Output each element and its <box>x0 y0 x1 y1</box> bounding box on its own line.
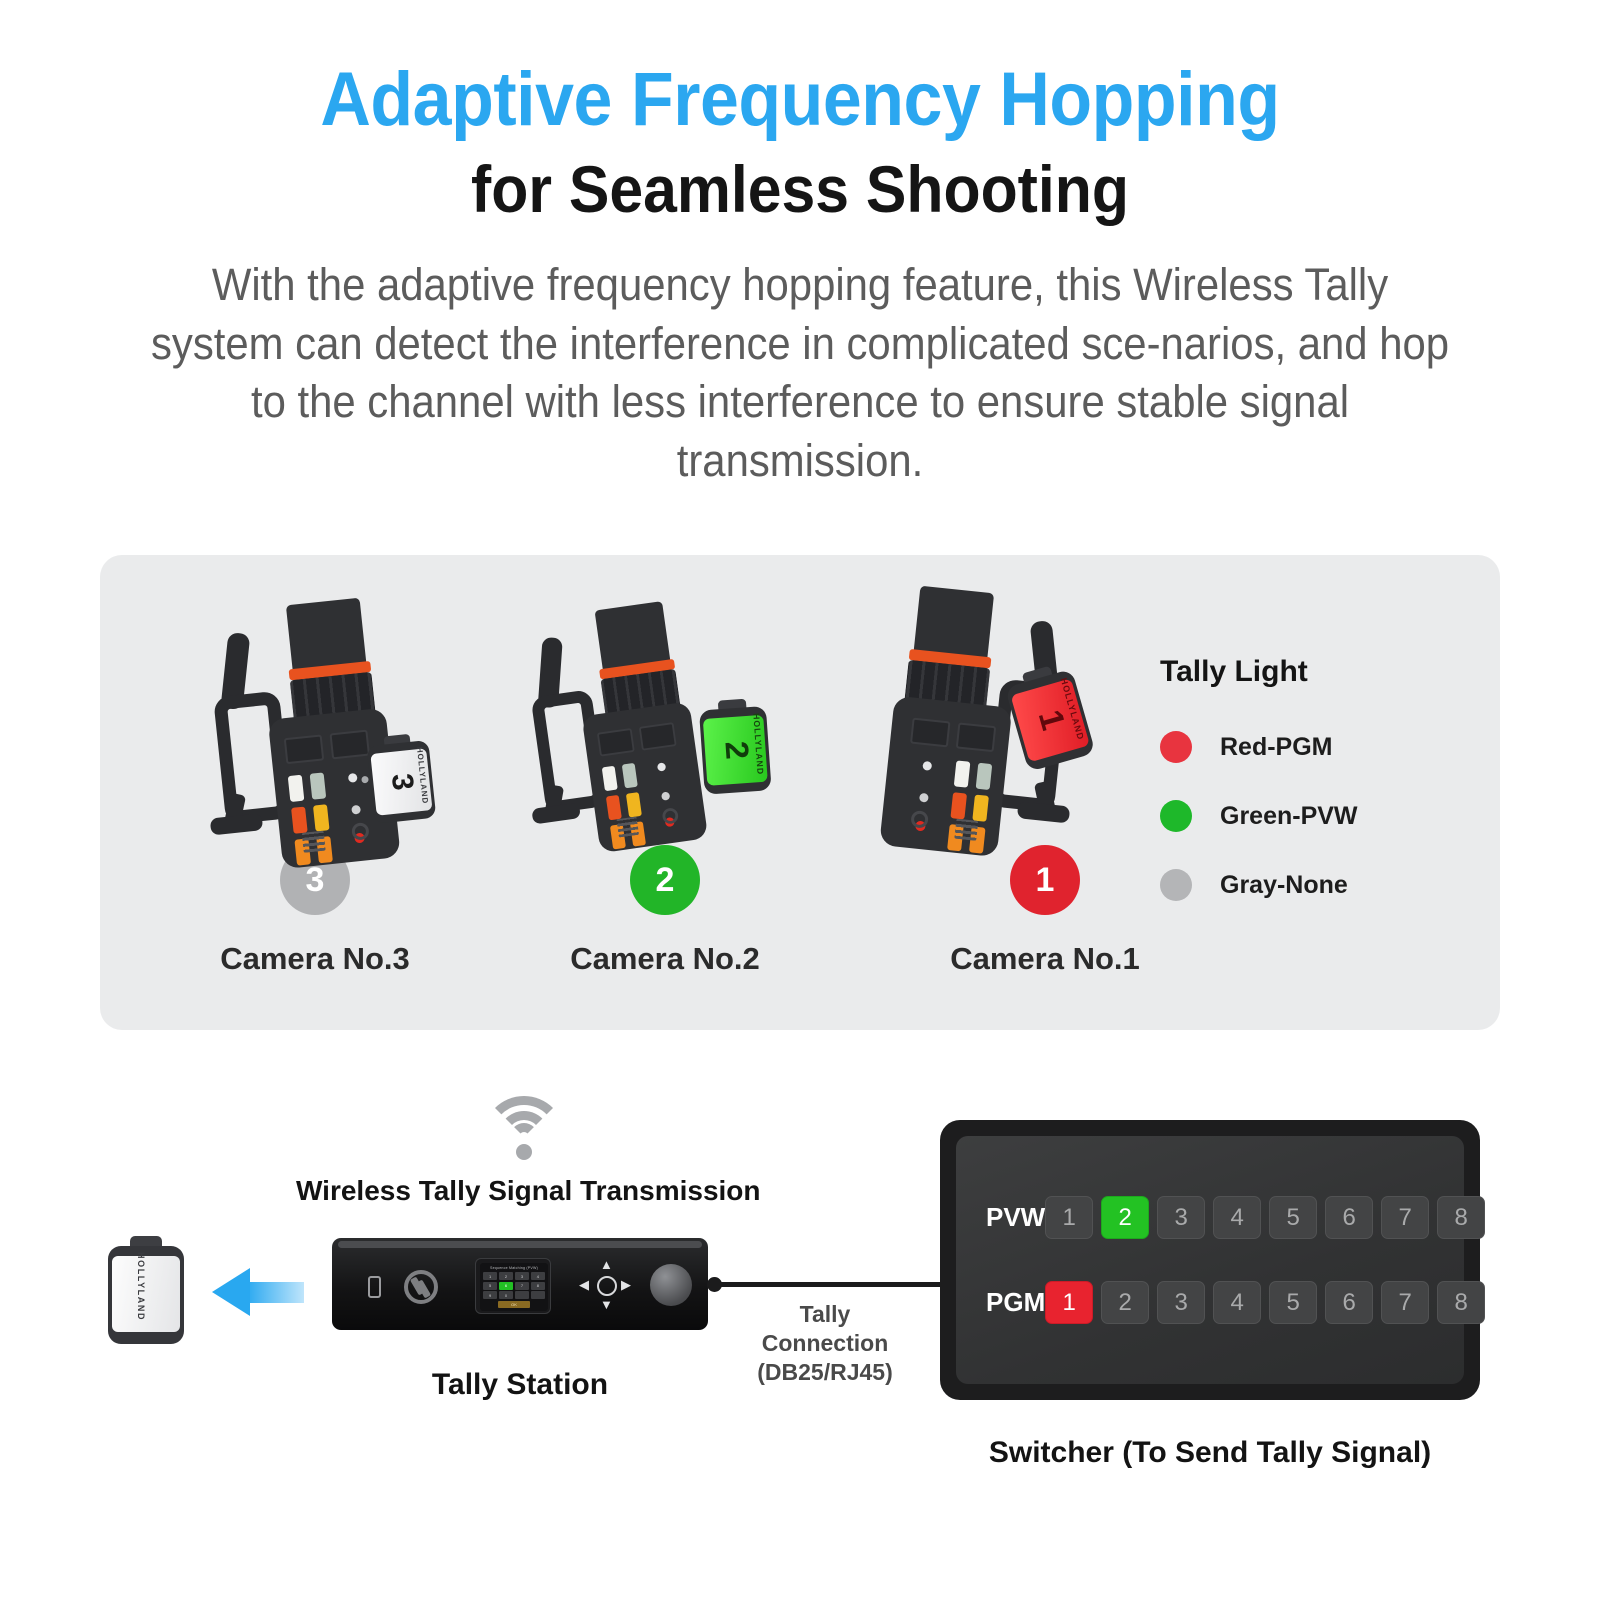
lcd-cell[interactable]: 8 <box>531 1282 545 1290</box>
receiver-number-3: 3 <box>384 772 420 792</box>
camera-label-2: Camera No.2 <box>540 941 790 977</box>
lcd-cell[interactable]: 1 <box>483 1272 497 1280</box>
switcher-buttons-pvw[interactable]: 1 2 3 4 5 6 7 8 <box>1045 1196 1485 1239</box>
legend-label-green: Green-PVW <box>1220 802 1358 831</box>
pgm-button-5[interactable]: 5 <box>1269 1281 1317 1324</box>
camera-badge-2: 2 <box>630 845 700 915</box>
legend-label-red: Red-PGM <box>1220 733 1333 762</box>
pvw-button-4[interactable]: 4 <box>1213 1196 1261 1239</box>
camera-badge-1: 1 <box>1010 845 1080 915</box>
pvw-button-8[interactable]: 8 <box>1437 1196 1485 1239</box>
tally-connection-caption-line2: (DB25/RJ45) <box>735 1358 915 1387</box>
lcd-cell[interactable]: 7 <box>515 1282 529 1290</box>
station-top-lip <box>338 1241 702 1248</box>
pvw-button-6[interactable]: 6 <box>1325 1196 1373 1239</box>
station-lcd-screen[interactable]: Sequence Matching (PVW) 1 2 3 4 5 6 7 8 … <box>480 1263 548 1311</box>
lcd-cell[interactable]: 4 <box>531 1272 545 1280</box>
pgm-button-6[interactable]: 6 <box>1325 1281 1373 1324</box>
tally-connection-caption: Tally Connection (DB25/RJ45) <box>735 1300 915 1386</box>
dpad-control[interactable]: ▲ ▼ ◀ ▶ <box>580 1260 634 1312</box>
lcd-ok-button[interactable]: OK <box>498 1301 530 1308</box>
switcher-row-pgm: PGM 1 2 3 4 5 6 7 8 <box>986 1281 1434 1324</box>
legend-dot-gray-icon <box>1160 869 1192 901</box>
switcher-row-pvw: PVW 1 2 3 4 5 6 7 8 <box>986 1196 1434 1239</box>
tally-connection-cable <box>712 1282 950 1287</box>
dpad-left-icon[interactable]: ◀ <box>579 1278 589 1291</box>
pvw-button-3[interactable]: 3 <box>1157 1196 1205 1239</box>
receiver-number-2: 2 <box>716 740 754 761</box>
tally-station-caption: Tally Station <box>330 1368 710 1402</box>
tally-station-device: Sequence Matching (PVW) 1 2 3 4 5 6 7 8 … <box>332 1238 708 1330</box>
receiver-white-brand: HOLLYLAND <box>136 1252 146 1321</box>
pvw-button-5[interactable]: 5 <box>1269 1196 1317 1239</box>
lcd-cell[interactable]: 5 <box>483 1282 497 1290</box>
tally-receiver-2: 2 HOLLYLAND <box>698 697 771 794</box>
pvw-button-7[interactable]: 7 <box>1381 1196 1429 1239</box>
pvw-button-2-active[interactable]: 2 <box>1101 1196 1149 1239</box>
switcher-label-pvw: PVW <box>986 1202 1045 1233</box>
lcd-cell[interactable]: 0 <box>499 1291 513 1299</box>
tally-receiver-3: 3 HOLLYLAND <box>366 732 437 824</box>
rotary-knob[interactable] <box>650 1264 692 1306</box>
switcher-label-pgm: PGM <box>986 1287 1045 1318</box>
pgm-button-2[interactable]: 2 <box>1101 1281 1149 1324</box>
camera-label-1: Camera No.1 <box>920 941 1170 977</box>
lcd-cell[interactable] <box>531 1291 545 1299</box>
pgm-button-7[interactable]: 7 <box>1381 1281 1429 1324</box>
tally-connection-caption-line1: Tally Connection <box>735 1300 915 1358</box>
pgm-button-4[interactable]: 4 <box>1213 1281 1261 1324</box>
pgm-button-3[interactable]: 3 <box>1157 1281 1205 1324</box>
pgm-button-8[interactable]: 8 <box>1437 1281 1485 1324</box>
station-lcd-frame: Sequence Matching (PVW) 1 2 3 4 5 6 7 8 … <box>475 1258 551 1314</box>
pgm-button-1-active[interactable]: 1 <box>1045 1281 1093 1324</box>
camera-label-3: Camera No.3 <box>190 941 440 977</box>
camera-overview-card: 3 Camera No.3 3 HOLLYLAND 2 Camera No.2 <box>100 555 1500 1030</box>
legend-item-red: Red-PGM <box>1160 731 1400 763</box>
legend-item-green: Green-PVW <box>1160 800 1400 832</box>
description-paragraph: With the adaptive frequency hopping feat… <box>149 256 1451 490</box>
header-block: Adaptive Frequency Hopping for Seamless … <box>0 0 1600 490</box>
lcd-cell[interactable]: 2 <box>499 1272 513 1280</box>
lcd-cell[interactable]: 9 <box>483 1291 497 1299</box>
legend-item-gray: Gray-None <box>1160 869 1400 901</box>
lcd-channel-grid[interactable]: 1 2 3 4 5 6 7 8 9 0 <box>483 1272 545 1299</box>
wifi-signal-icon <box>483 1092 565 1158</box>
camera-column-2: 2 Camera No.2 <box>540 845 790 977</box>
lcd-screen-title: Sequence Matching (PVW) <box>483 1266 545 1270</box>
camera-column-1: 1 Camera No.1 <box>920 845 1170 977</box>
dpad-center-icon[interactable] <box>597 1276 617 1296</box>
receiver-number-1: 1 <box>1029 706 1071 734</box>
tally-light-legend: Tally Light Red-PGM Green-PVW Gray-None <box>1160 655 1400 938</box>
hollyland-logo-icon <box>404 1270 438 1304</box>
wireless-transmission-caption: Wireless Tally Signal Transmission <box>296 1175 746 1207</box>
legend-title: Tally Light <box>1160 655 1400 689</box>
page-title-secondary: for Seamless Shooting <box>64 156 1536 222</box>
switcher-device: PVW 1 2 3 4 5 6 7 8 PGM 1 2 3 4 5 6 7 <box>940 1120 1480 1400</box>
switcher-caption: Switcher (To Send Tally Signal) <box>945 1436 1475 1470</box>
lcd-cell[interactable] <box>515 1291 529 1299</box>
lcd-cell[interactable]: 3 <box>515 1272 529 1280</box>
legend-label-gray: Gray-None <box>1220 871 1348 900</box>
lcd-cell-active[interactable]: 6 <box>499 1282 513 1290</box>
signal-direction-arrow-icon <box>212 1268 304 1316</box>
switcher-buttons-pgm[interactable]: 1 2 3 4 5 6 7 8 <box>1045 1281 1485 1324</box>
legend-dot-green-icon <box>1160 800 1192 832</box>
tally-receiver-white: HOLLYLAND <box>108 1236 184 1344</box>
dpad-right-icon[interactable]: ▶ <box>621 1278 631 1291</box>
usb-port-icon <box>368 1276 381 1298</box>
switcher-panel: PVW 1 2 3 4 5 6 7 8 PGM 1 2 3 4 5 6 7 <box>956 1136 1464 1384</box>
dpad-down-icon[interactable]: ▼ <box>600 1298 613 1311</box>
legend-dot-red-icon <box>1160 731 1192 763</box>
pvw-button-1[interactable]: 1 <box>1045 1196 1093 1239</box>
page-title-primary: Adaptive Frequency Hopping <box>64 62 1536 138</box>
dpad-up-icon[interactable]: ▲ <box>600 1258 613 1271</box>
